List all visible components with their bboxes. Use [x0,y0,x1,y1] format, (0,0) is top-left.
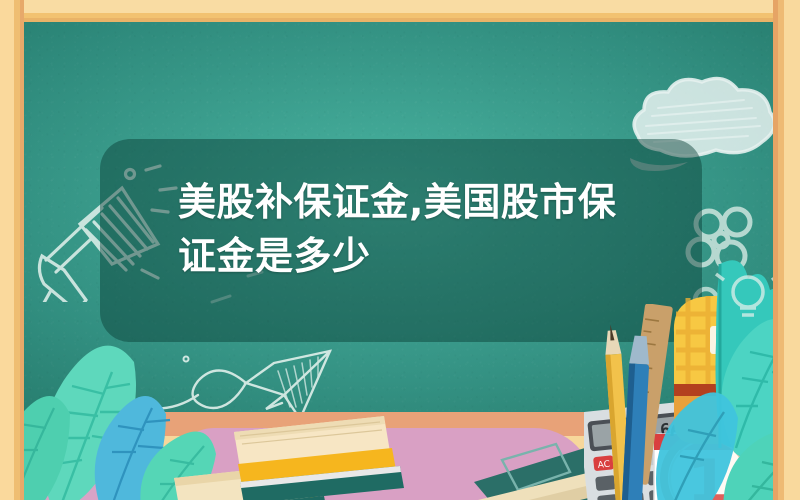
frame-top-band [0,0,800,13]
frame-right-band [784,0,800,500]
book-stack-bottom-left [174,412,474,500]
frame-right-band-inner [773,0,778,500]
lightbulb-chalk-drawing [714,270,773,330]
frame-left-band [0,0,14,500]
title-card-canvas: 64 AC [0,0,800,500]
frame-right-band-mid [778,0,784,500]
page-title: 美股补保证金,美国股市保证金是多少 [178,176,648,284]
